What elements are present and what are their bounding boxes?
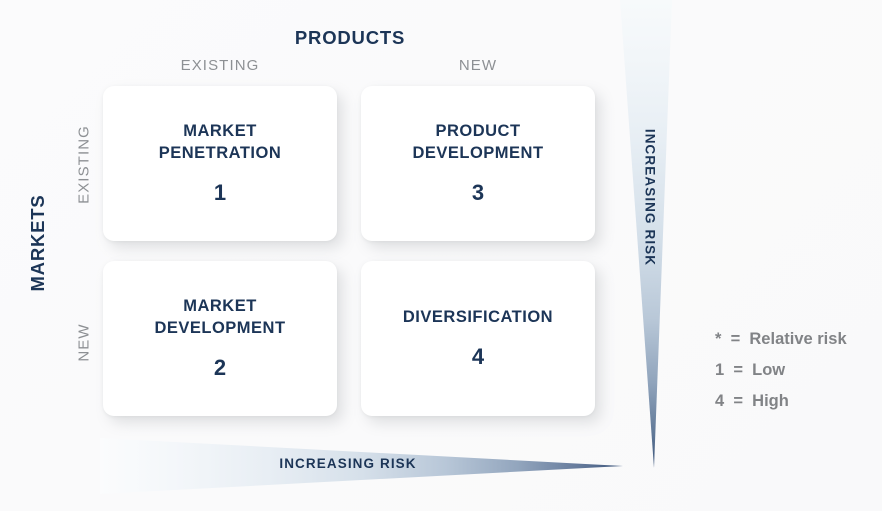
quadrant-card-product-development[interactable]: PRODUCT DEVELOPMENT 3 bbox=[361, 86, 595, 241]
horizontal-arrow-label: INCREASING RISK bbox=[228, 456, 468, 471]
quadrant-risk-number: 3 bbox=[472, 180, 484, 206]
quadrant-risk-number: 4 bbox=[472, 344, 484, 370]
quadrant-title: DIVERSIFICATION bbox=[403, 307, 553, 328]
quadrant-risk-number: 2 bbox=[214, 355, 226, 381]
row-label-existing: EXISTING bbox=[76, 90, 93, 240]
ansoff-matrix-diagram: PRODUCTS EXISTING NEW MARKETS EXISTING N… bbox=[0, 0, 882, 511]
quadrant-risk-number: 1 bbox=[214, 180, 226, 206]
row-label-new: NEW bbox=[76, 268, 93, 418]
products-axis-title: PRODUCTS bbox=[0, 27, 700, 49]
quadrant-card-diversification[interactable]: DIVERSIFICATION 4 bbox=[361, 261, 595, 416]
legend-row-relative-risk: * = Relative risk bbox=[715, 330, 847, 349]
quadrant-card-market-penetration[interactable]: MARKET PENETRATION 1 bbox=[103, 86, 337, 241]
vertical-increasing-risk-arrow: INCREASING RISK bbox=[608, 0, 700, 472]
markets-axis-title: MARKETS bbox=[27, 173, 49, 313]
column-label-existing: EXISTING bbox=[130, 57, 310, 74]
horizontal-increasing-risk-arrow: INCREASING RISK bbox=[78, 432, 638, 494]
column-label-new: NEW bbox=[388, 57, 568, 74]
quadrant-title: MARKET PENETRATION bbox=[159, 121, 282, 163]
legend-row-high: 4 = High bbox=[715, 392, 847, 411]
quadrant-title: MARKET DEVELOPMENT bbox=[154, 296, 285, 338]
quadrant-title: PRODUCT DEVELOPMENT bbox=[412, 121, 543, 163]
risk-legend: * = Relative risk 1 = Low 4 = High bbox=[715, 330, 847, 411]
legend-row-low: 1 = Low bbox=[715, 361, 847, 380]
vertical-arrow-label: INCREASING RISK bbox=[643, 113, 658, 283]
quadrant-card-market-development[interactable]: MARKET DEVELOPMENT 2 bbox=[103, 261, 337, 416]
